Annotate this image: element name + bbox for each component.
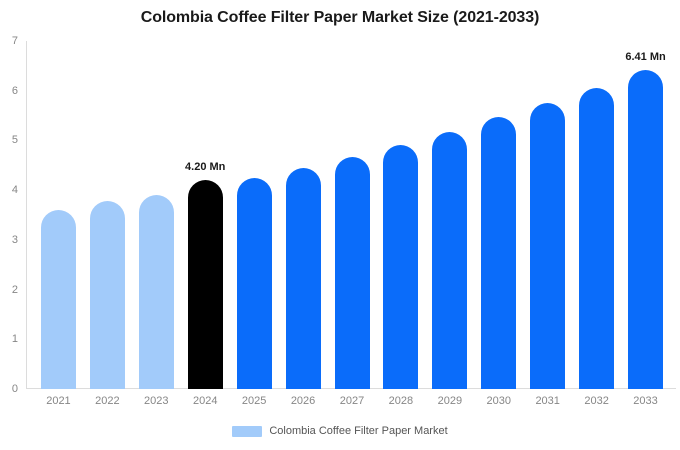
y-axis-line xyxy=(26,41,27,389)
y-axis-tick-label: 4 xyxy=(12,184,18,196)
x-axis-tick-label-2024: 2024 xyxy=(188,395,223,407)
legend-label-colombia-coffee-filter-paper-market: Colombia Coffee Filter Paper Market xyxy=(269,425,447,437)
bar-2027[interactable] xyxy=(335,157,370,389)
y-axis-tick-label: 0 xyxy=(12,383,18,395)
bar-slot: 6.41 Mn xyxy=(628,70,663,389)
bar-value-label-2024: 4.20 Mn xyxy=(185,161,225,173)
bar-slot xyxy=(579,88,614,389)
bar-value-label-2033: 6.41 Mn xyxy=(625,51,665,63)
y-axis-tick-label: 2 xyxy=(12,284,18,296)
bar-slot xyxy=(432,132,467,389)
x-axis-tick-label-2029: 2029 xyxy=(432,395,467,407)
bar-slot xyxy=(286,168,321,389)
bar-2025[interactable] xyxy=(237,178,272,389)
bar-2022[interactable] xyxy=(90,201,125,389)
chart-legend: Colombia Coffee Filter Paper Market xyxy=(0,425,680,437)
bar-slot xyxy=(335,157,370,389)
bar-slot xyxy=(383,145,418,389)
bar-slot xyxy=(41,210,76,389)
bar-chart: Colombia Coffee Filter Paper Market Size… xyxy=(0,0,680,450)
x-axis-tick-label-2032: 2032 xyxy=(579,395,614,407)
bar-2030[interactable] xyxy=(481,117,516,389)
bar-slot: 4.20 Mn xyxy=(188,180,223,389)
y-axis-tick-label: 6 xyxy=(12,85,18,97)
bar-slot xyxy=(237,178,272,389)
bar-slot xyxy=(481,117,516,389)
y-axis-tick-label: 3 xyxy=(12,234,18,246)
bar-2023[interactable] xyxy=(139,195,174,389)
x-axis-tick-label-2027: 2027 xyxy=(335,395,370,407)
y-axis-tick-label: 7 xyxy=(12,35,18,47)
bar-2021[interactable] xyxy=(41,210,76,389)
chart-title: Colombia Coffee Filter Paper Market Size… xyxy=(0,9,680,27)
y-axis-tick-label: 5 xyxy=(12,134,18,146)
x-axis-tick-label-2026: 2026 xyxy=(286,395,321,407)
x-axis-tick-label-2021: 2021 xyxy=(41,395,76,407)
bar-2032[interactable] xyxy=(579,88,614,389)
bar-2028[interactable] xyxy=(383,145,418,389)
bar-slot xyxy=(530,103,565,389)
bar-2031[interactable] xyxy=(530,103,565,389)
bar-2026[interactable] xyxy=(286,168,321,389)
x-axis-tick-label-2033: 2033 xyxy=(628,395,663,407)
plot-area: 01234567 4.20 Mn6.41 Mn xyxy=(26,41,676,389)
y-axis-tick-label: 1 xyxy=(12,333,18,345)
legend-swatch-colombia-coffee-filter-paper-market xyxy=(232,426,262,437)
x-axis-tick-label-2025: 2025 xyxy=(237,395,272,407)
bar-2024[interactable] xyxy=(188,180,223,389)
x-axis-tick-label-2031: 2031 xyxy=(530,395,565,407)
x-axis-tick-label-2028: 2028 xyxy=(383,395,418,407)
x-axis-tick-label-2022: 2022 xyxy=(90,395,125,407)
bar-slot xyxy=(90,201,125,389)
x-axis-tick-label-2030: 2030 xyxy=(481,395,516,407)
bar-2033[interactable] xyxy=(628,70,663,389)
bar-slot xyxy=(139,195,174,389)
x-axis-tick-label-2023: 2023 xyxy=(139,395,174,407)
bar-2029[interactable] xyxy=(432,132,467,389)
